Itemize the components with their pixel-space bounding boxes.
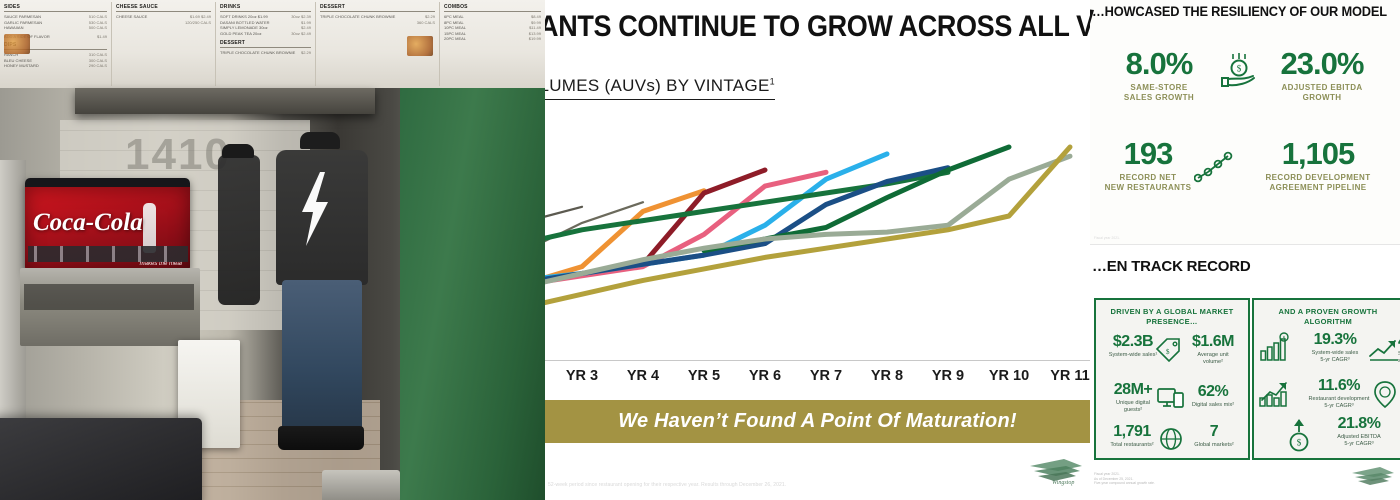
menu-heading-combos: COMBOS <box>444 5 541 12</box>
chart-subtitle-superscript: 1 <box>770 76 775 86</box>
resiliency-slide-heading: …HOWCASED THE RESILIENCY OF OUR MODEL <box>1092 4 1387 19</box>
line-chart-svg <box>545 112 1090 360</box>
stat-label: Average unitvolume² <box>1176 352 1250 366</box>
kitchen-hood <box>75 88 375 114</box>
background-employee <box>218 155 260 305</box>
stat-value: 1,105 <box>1238 138 1398 169</box>
coca-cola-logo: Coca-Cola <box>33 209 143 237</box>
bar-chart-dollar-icon: $ <box>1258 332 1292 367</box>
chart-subtitle-text: …VOLUMES (AUVs) BY VINTAGE <box>545 76 770 95</box>
track-record-heading: …EN TRACK RECORD <box>1092 258 1250 275</box>
svg-text:Wingstop: Wingstop <box>1052 480 1074 486</box>
chart-x-tick-label: YR 4 <box>621 368 665 384</box>
stat-label: Global markets² <box>1178 442 1250 449</box>
money-bag-arrow-icon: $ <box>1284 418 1314 457</box>
auv-chart-slide: …AURANTS CONTINUE TO GROW ACROSS ALL V… … <box>545 0 1090 500</box>
foreground-employee <box>276 150 368 480</box>
background-employee-cap <box>222 144 254 158</box>
menu-column-cheese: CHEESE SAUCE CHEESE SAUCE$1.69 $2.49 120… <box>112 2 216 86</box>
chart-x-axis-line <box>545 360 1090 361</box>
stat-digital-sales-mix: 62% Digital sales mix² <box>1176 384 1250 409</box>
slide-divider <box>1090 244 1400 245</box>
chart-x-tick-label: YR 9 <box>926 368 970 384</box>
resiliency-slide: …HOWCASED THE RESILIENCY OF OUR MODEL 8.… <box>1090 0 1400 245</box>
banner-text: We Haven’t Found A Point Of Maturation! <box>618 410 1017 433</box>
stat-value: 8.0% <box>1100 48 1218 79</box>
employee-shoes <box>278 426 364 450</box>
metal-tray <box>322 470 400 500</box>
menu-heading-dessert: DESSERT <box>320 5 435 12</box>
employee-jeans <box>282 280 362 430</box>
growth-algorithm-title: AND A PROVEN GROWTHALGORITHM <box>1254 307 1400 327</box>
stat-same-store-sales: 8.0% SAME-STORESALES GROWTH <box>1100 48 1218 103</box>
svg-text:$: $ <box>1297 438 1302 448</box>
chart-plot-area <box>545 112 1090 360</box>
chart-x-axis-labels: YR 3YR 4YR 5YR 6YR 7YR 8YR 9YR 10YR 11 <box>545 366 1090 394</box>
employee-cap <box>300 132 340 149</box>
chart-x-tick-label: YR 11 <box>1048 368 1090 384</box>
stat-value: 7 <box>1178 424 1250 440</box>
brownie-thumbnail <box>407 36 433 56</box>
growth-algorithm-box: AND A PROVEN GROWTHALGORITHM $ 19.3% Sys… <box>1252 298 1400 460</box>
stat-label: Digital sales mix² <box>1176 402 1250 409</box>
stat-value: 19.3% <box>1292 332 1378 348</box>
stat-value: 21.8% <box>1314 416 1400 432</box>
stat-adjusted-ebitda-cagr: 21.8% Adjusted EBITDA5-yr CAGR³ <box>1314 416 1400 448</box>
stat-value: 193 <box>1090 138 1210 169</box>
stat-value: 62% <box>1176 384 1250 400</box>
wingstop-wing-logo: Wingstop <box>1028 457 1084 492</box>
stat-label: System-wide sales5-yr CAGR³ <box>1292 350 1378 364</box>
global-presence-title: DRIVEN BY A GLOBAL MARKETPRESENCE… <box>1096 307 1248 327</box>
chart-series-line <box>545 207 582 248</box>
chart-x-tick-label: YR 10 <box>987 368 1031 384</box>
chart-x-tick-label: YR 3 <box>560 368 604 384</box>
wingstop-wing-logo <box>1350 465 1396 494</box>
soda-nozzles <box>28 246 188 262</box>
track-record-footnote: Fiscal year 2021.As of December 25, 2021… <box>1094 472 1155 486</box>
global-presence-box: DRIVEN BY A GLOBAL MARKETPRESENCE… $2.3B… <box>1094 298 1250 460</box>
stat-label: RECORD DEVELOPMENTAGREEMENT PIPELINE <box>1238 173 1398 193</box>
stat-system-wide-sales-cagr: 19.3% System-wide sales5-yr CAGR³ <box>1292 332 1378 364</box>
stat-record-net-new-restaurants: 193 RECORD NETNEW RESTAURANTS <box>1090 138 1210 193</box>
stat-global-markets: 7 Global markets² <box>1178 424 1250 449</box>
slide-a-footnote: Fiscal year 2021. <box>1094 236 1120 240</box>
stat-value: $1.6M <box>1176 334 1250 350</box>
stat-label: SAME-STORESALES GROWTH <box>1100 83 1218 103</box>
menu-column-drinks: DRINKS SOFT DRINKS 20oz $1.9930oz $2.39 … <box>216 2 316 86</box>
green-wall <box>400 88 545 500</box>
menu-column-combos: COMBOS 6PC MEAL$8.49 8PC MEAL$9.99 10PC … <box>440 2 545 86</box>
network-nodes-icon <box>1194 150 1234 189</box>
chart-x-tick-label: YR 7 <box>804 368 848 384</box>
menu-column-dessert: DESSERT TRIPLE CHOCOLATE CHUNK BROWNIE$2… <box>316 2 440 86</box>
stat-adjusted-ebitda-growth: 23.0% ADJUSTED EBITDAGROWTH <box>1258 48 1386 103</box>
chart-footnote: 52-week period since restaurant opening … <box>548 482 786 488</box>
menu-heading-cheese: CHEESE SAUCE <box>116 5 211 12</box>
location-pin-icon <box>1372 380 1398 415</box>
bar-chart-arrow-icon <box>1258 378 1292 413</box>
svg-text:$: $ <box>1166 348 1170 356</box>
pos-register <box>0 418 202 500</box>
menu-heading-sides: SIDES <box>4 5 107 12</box>
stat-record-development-pipeline: 1,105 RECORD DEVELOPMENTAGREEMENT PIPELI… <box>1238 138 1398 193</box>
drip-tray <box>24 284 194 310</box>
maturation-banner: We Haven’t Found A Point Of Maturation! <box>545 400 1090 443</box>
track-record-slide: …EN TRACK RECORD DRIVEN BY A GLOBAL MARK… <box>1090 248 1400 500</box>
stat-label: ADJUSTED EBITDAGROWTH <box>1258 83 1386 103</box>
menu-board: SIDES SAUCE PARMESAN510 CALS GARLIC PARM… <box>0 0 545 91</box>
menu-heading-drinks: DRINKS <box>220 5 311 12</box>
wings-thumbnail <box>4 34 30 54</box>
chart-subtitle: …VOLUMES (AUVs) BY VINTAGE1 <box>545 76 775 100</box>
restaurant-kitchen-photo: SIDES SAUCE PARMESAN510 CALS GARLIC PARM… <box>0 0 545 500</box>
stat-average-unit-volume: $1.6M Average unitvolume² <box>1176 334 1250 366</box>
stat-label: RECORD NETNEW RESTAURANTS <box>1090 173 1210 193</box>
stat-value: 23.0% <box>1258 48 1386 79</box>
chart-x-tick-label: YR 6 <box>743 368 787 384</box>
wall-number: 1410 <box>125 130 231 180</box>
hand-dollar-icon: $ <box>1220 52 1256 95</box>
chart-x-tick-label: YR 8 <box>865 368 909 384</box>
stats-slides-panel: …HOWCASED THE RESILIENCY OF OUR MODEL 8.… <box>1090 0 1400 500</box>
stat-label: Adjusted EBITDA5-yr CAGR³ <box>1314 434 1400 448</box>
chart-x-tick-label: YR 5 <box>682 368 726 384</box>
trend-arrow-icon <box>1368 336 1400 367</box>
svg-text:$: $ <box>1237 64 1242 74</box>
slide-deck-screenshot: SIDES SAUCE PARMESAN510 CALS GARLIC PARM… <box>0 0 1400 500</box>
chart-slide-title: …AURANTS CONTINUE TO GROW ACROSS ALL V… <box>545 10 1049 44</box>
